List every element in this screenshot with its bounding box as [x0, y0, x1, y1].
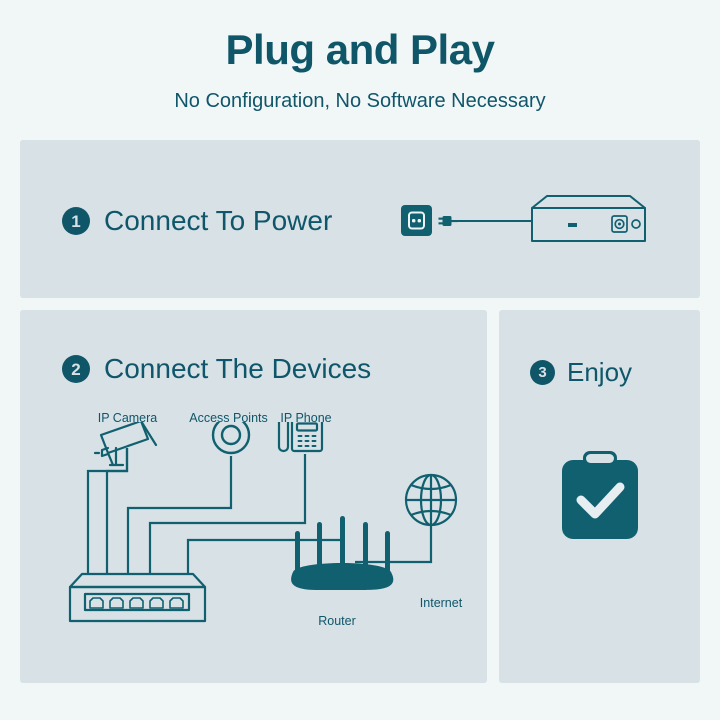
network-cables	[88, 448, 431, 574]
step-2-badge: 2	[62, 355, 90, 383]
network-switch-icon	[532, 196, 645, 241]
power-connection-illustration	[400, 186, 650, 256]
step-2-heading: 2 Connect The Devices	[62, 354, 371, 384]
power-plug-icon	[439, 216, 458, 226]
step-2-title: Connect The Devices	[104, 354, 371, 384]
step-1-title: Connect To Power	[104, 206, 332, 236]
page-subtitle: No Configuration, No Software Necessary	[0, 88, 720, 114]
network-topology-illustration	[55, 422, 480, 637]
wall-socket-icon	[401, 205, 432, 236]
step-3-heading: 3 Enjoy	[530, 357, 632, 387]
router-body	[291, 563, 393, 590]
ip-phone-icon	[279, 422, 322, 451]
ip-camera-icon	[95, 422, 156, 465]
step-3-badge: 3	[530, 360, 555, 385]
router-icon	[291, 516, 393, 590]
infographic-canvas: Plug and Play No Configuration, No Softw…	[0, 0, 720, 720]
clipboard-check-icon	[559, 450, 641, 542]
access-point-icon	[213, 422, 249, 453]
step-1-heading: 1 Connect To Power	[62, 206, 332, 236]
globe-icon	[406, 475, 456, 525]
step-1-badge: 1	[62, 207, 90, 235]
page-title: Plug and Play	[0, 26, 720, 74]
network-switch-icon	[70, 574, 205, 621]
step-3-title: Enjoy	[567, 357, 632, 387]
